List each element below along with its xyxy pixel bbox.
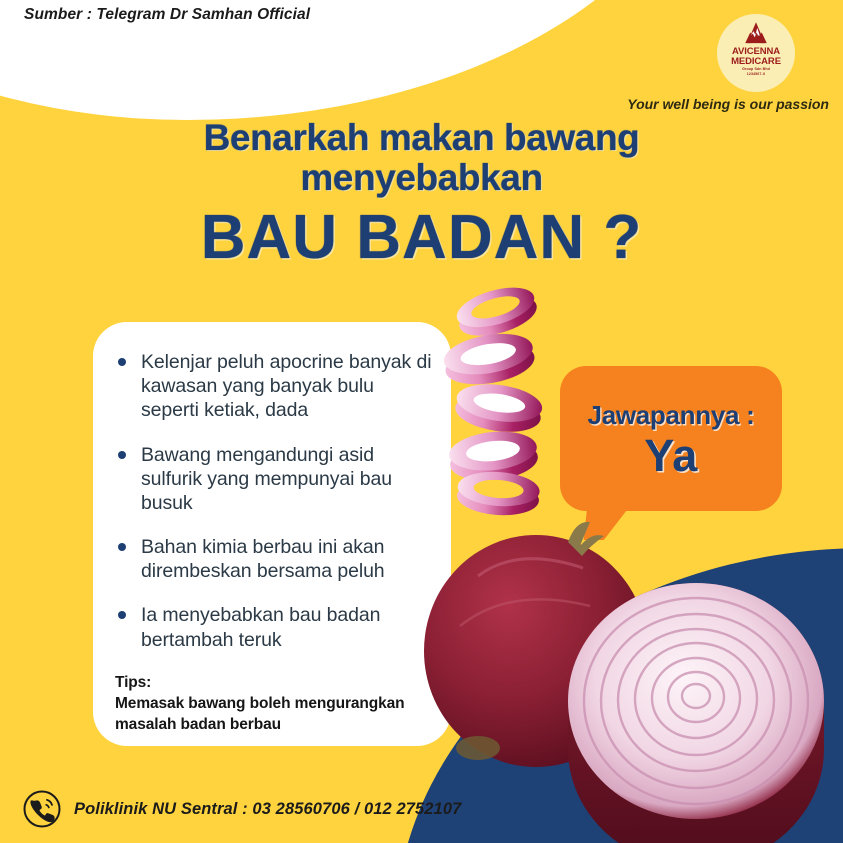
phone-call-icon[interactable]	[22, 789, 62, 829]
headline-line1: Benarkah makan bawang	[0, 118, 843, 158]
brand-logo: AVICENNA MEDICARE Group Sdn Bhd 1234567-…	[717, 14, 795, 92]
source-credit: Sumber : Telegram Dr Samhan Official	[24, 6, 310, 24]
logo-sub: Group Sdn Bhd 1234567-X	[742, 67, 770, 76]
headline-line3: BAU BADAN ?	[0, 203, 843, 272]
half-onion-icon	[568, 583, 824, 843]
answer-question-label: Jawapannya :	[588, 400, 755, 431]
bullet-list: Kelenjar peluh apocrine banyak di kawasa…	[115, 350, 433, 652]
brand-tagline: Your well being is our passion	[627, 96, 829, 112]
logo-sub-line2: 1234567-X	[742, 72, 770, 76]
list-item-text: Ia menyebabkan bau badan bertambah teruk	[141, 604, 380, 650]
bullet-dot-icon	[118, 543, 126, 551]
poster-canvas: Sumber : Telegram Dr Samhan Official AVI…	[0, 0, 843, 843]
logo-circle: AVICENNA MEDICARE Group Sdn Bhd 1234567-…	[717, 14, 795, 92]
list-item: Bahan kimia berbau ini akan dirembeskan …	[115, 535, 433, 583]
bullet-dot-icon	[118, 611, 126, 619]
answer-speech-bubble: Jawapannya : Ya	[560, 366, 782, 511]
tips-block: Tips: Memasak bawang boleh mengurangkan …	[115, 672, 433, 736]
list-item-text: Bahan kimia berbau ini akan dirembeskan …	[141, 536, 385, 582]
tips-text: Memasak bawang boleh mengurangkan masala…	[115, 693, 433, 736]
mountain-peak-logo-icon	[737, 21, 775, 45]
bullet-dot-icon	[118, 451, 126, 459]
list-item: Kelenjar peluh apocrine banyak di kawasa…	[115, 350, 433, 423]
answer-value: Ya	[644, 433, 698, 478]
red-onion-photo	[418, 516, 843, 843]
list-item: Bawang mengandungi asid sulfurik yang me…	[115, 443, 433, 516]
bullet-dot-icon	[118, 358, 126, 366]
logo-name-line2: MEDICARE	[731, 57, 781, 67]
page-title: Benarkah makan bawang menyebabkan BAU BA…	[0, 118, 843, 273]
footer-contact: Poliklinik NU Sentral : 03 28560706 / 01…	[22, 789, 461, 829]
logo-name: AVICENNA MEDICARE	[731, 47, 781, 66]
headline-line2: menyebabkan	[0, 158, 843, 198]
tips-label: Tips:	[115, 672, 433, 693]
list-item: Ia menyebabkan bau badan bertambah teruk	[115, 603, 433, 651]
content-card: Kelenjar peluh apocrine banyak di kawasa…	[93, 322, 451, 746]
footer-contact-text: Poliklinik NU Sentral : 03 28560706 / 01…	[74, 800, 461, 819]
list-item-text: Kelenjar peluh apocrine banyak di kawasa…	[141, 351, 432, 421]
onion-rings-illustration	[432, 286, 562, 521]
list-item-text: Bawang mengandungi asid sulfurik yang me…	[141, 444, 392, 514]
